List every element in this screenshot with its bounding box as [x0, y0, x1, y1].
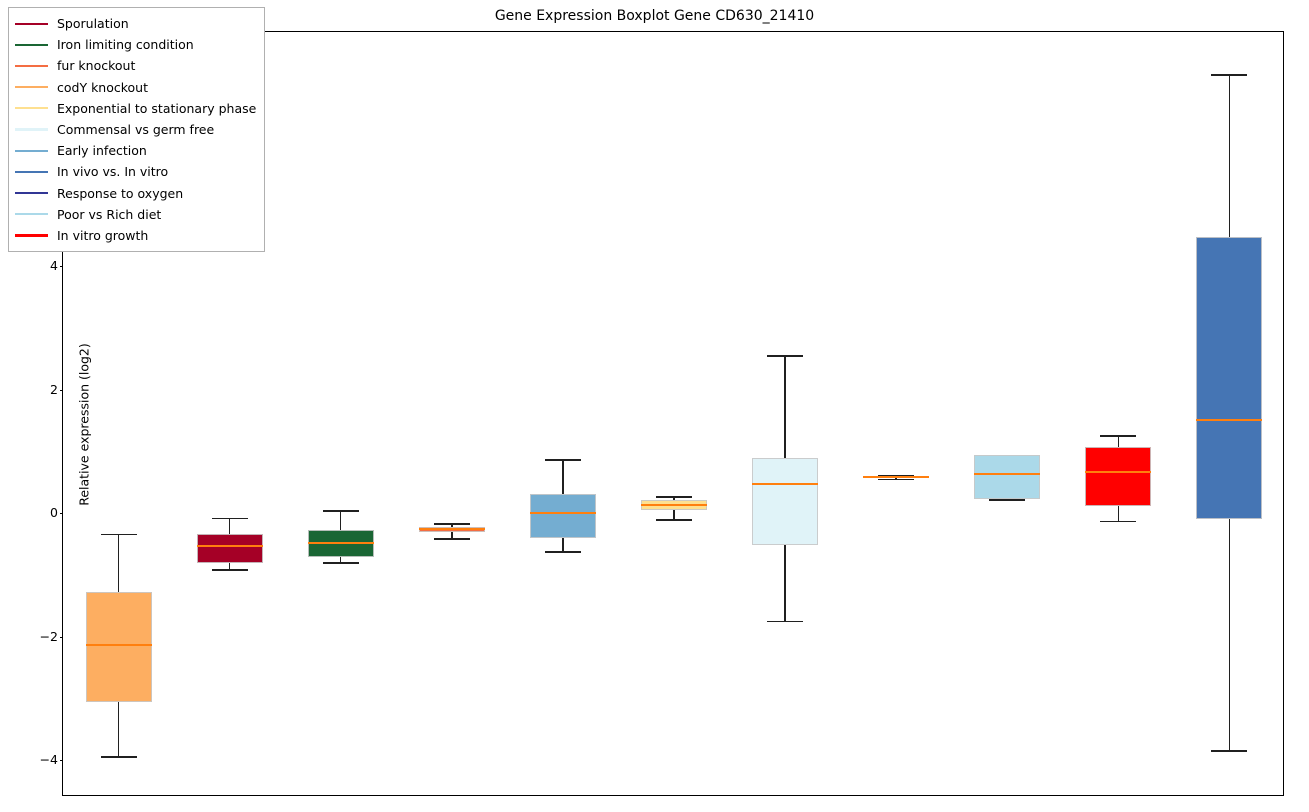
median-line: [863, 476, 929, 478]
legend-color-swatch: [15, 150, 48, 152]
whisker-upper: [340, 510, 341, 530]
legend-color-swatch: [15, 23, 48, 25]
legend-item-label: In vivo vs. In vitro: [57, 164, 168, 179]
legend-color-swatch: [15, 86, 48, 88]
whisker-cap-lower: [878, 479, 914, 481]
median-line: [641, 504, 707, 506]
whisker-cap-upper: [323, 510, 359, 512]
legend-item[interactable]: Poor vs Rich diet: [15, 204, 256, 225]
legend-color-swatch: [15, 65, 48, 67]
whisker-upper: [1229, 74, 1230, 237]
legend-item[interactable]: fur knockout: [15, 55, 256, 76]
boxplot-box: [507, 32, 618, 795]
whisker-lower: [1118, 506, 1119, 520]
whisker-cap-lower: [434, 538, 470, 540]
median-line: [308, 542, 374, 544]
legend-item-label: Iron limiting condition: [57, 37, 194, 52]
whisker-cap-upper: [545, 459, 581, 461]
whisker-lower: [562, 538, 563, 552]
legend-item[interactable]: Response to oxygen: [15, 183, 256, 204]
box-rect: [197, 534, 263, 563]
legend-item[interactable]: Commensal vs germ free: [15, 119, 256, 140]
legend-color-swatch: [15, 192, 48, 194]
boxplot-box: [285, 32, 396, 795]
y-tick-label: 0: [50, 507, 58, 520]
whisker-upper: [562, 459, 563, 494]
legend: SporulationIron limiting conditionfur kn…: [8, 7, 265, 252]
whisker-lower: [118, 702, 119, 756]
boxplot-box: [618, 32, 729, 795]
boxplot-box: [952, 32, 1063, 795]
whisker-cap-upper: [434, 523, 470, 525]
legend-color-swatch: [15, 44, 48, 46]
whisker-cap-lower: [323, 562, 359, 564]
median-line: [1196, 419, 1262, 421]
legend-item[interactable]: Exponential to stationary phase: [15, 98, 256, 119]
legend-item[interactable]: codY knockout: [15, 77, 256, 98]
legend-item-label: Response to oxygen: [57, 186, 183, 201]
whisker-cap-lower: [101, 756, 137, 758]
whisker-upper: [229, 518, 230, 534]
whisker-upper: [784, 355, 785, 457]
whisker-cap-upper: [101, 534, 137, 536]
legend-item[interactable]: Early infection: [15, 140, 256, 161]
legend-item[interactable]: Iron limiting condition: [15, 34, 256, 55]
whisker-cap-lower: [1100, 521, 1136, 523]
median-line: [1085, 471, 1151, 473]
median-line: [752, 483, 818, 485]
boxplot-box: [1063, 32, 1174, 795]
box-rect: [530, 494, 596, 538]
whisker-cap-upper: [656, 496, 692, 498]
median-line: [197, 545, 263, 547]
whisker-cap-upper: [767, 355, 803, 357]
legend-item[interactable]: Sporulation: [15, 13, 256, 34]
boxplot-box: [730, 32, 841, 795]
legend-item-label: In vitro growth: [57, 228, 148, 243]
whisker-cap-lower: [212, 569, 248, 571]
whisker-cap-upper: [1100, 435, 1136, 437]
whisker-cap-lower: [1211, 750, 1247, 752]
whisker-lower: [784, 545, 785, 621]
median-line: [86, 644, 152, 646]
box-rect: [86, 592, 152, 702]
legend-item-label: codY knockout: [57, 80, 148, 95]
whisker-upper: [118, 534, 119, 592]
legend-item-label: Poor vs Rich diet: [57, 207, 161, 222]
y-tick-label: 2: [50, 384, 58, 397]
legend-item[interactable]: In vivo vs. In vitro: [15, 161, 256, 182]
whisker-cap-lower: [989, 499, 1025, 501]
legend-color-swatch: [15, 213, 48, 215]
whisker-lower: [229, 563, 230, 570]
legend-item-label: Sporulation: [57, 16, 129, 31]
whisker-cap-lower: [545, 551, 581, 553]
legend-item-label: fur knockout: [57, 58, 135, 73]
legend-item-label: Early infection: [57, 143, 147, 158]
box-rect: [1196, 237, 1262, 519]
legend-color-swatch: [15, 128, 48, 130]
y-tick-label: −2: [40, 630, 58, 643]
whisker-lower: [673, 510, 674, 519]
legend-item[interactable]: In vitro growth: [15, 225, 256, 246]
boxplot-box: [396, 32, 507, 795]
legend-color-swatch: [15, 171, 48, 173]
boxplot-box: [841, 32, 952, 795]
box-rect: [752, 458, 818, 545]
legend-item-label: Exponential to stationary phase: [57, 101, 256, 116]
legend-color-swatch: [15, 234, 48, 236]
legend-item-label: Commensal vs germ free: [57, 122, 214, 137]
boxplot-box: [1174, 32, 1283, 795]
y-tick-label: 4: [50, 260, 58, 273]
whisker-cap-upper: [1211, 74, 1247, 76]
median-line: [974, 473, 1040, 475]
whisker-lower: [1229, 519, 1230, 750]
median-line: [530, 512, 596, 514]
whisker-cap-lower: [656, 519, 692, 521]
y-tick-label: −4: [40, 754, 58, 767]
legend-color-swatch: [15, 107, 48, 109]
figure-canvas: Gene Expression Boxplot Gene CD630_21410…: [0, 0, 1309, 812]
box-rect: [1085, 447, 1151, 507]
median-line: [419, 528, 485, 530]
whisker-cap-upper: [212, 518, 248, 520]
box-rect: [974, 455, 1040, 499]
whisker-cap-lower: [767, 621, 803, 623]
